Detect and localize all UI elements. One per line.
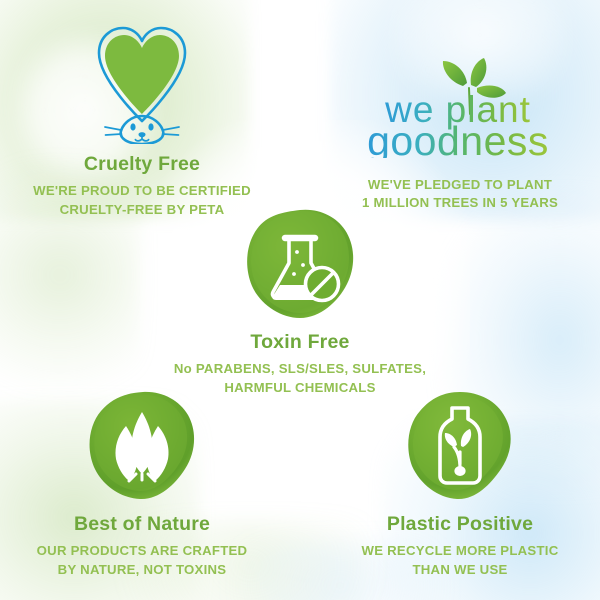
badge-desc-line: OUR PRODUCTS ARE CRAFTED — [12, 542, 272, 560]
plastic-positive-icon-holder — [330, 386, 590, 506]
badge-we-plant-goodness: we plant goodness WE'VE PLEDGED TO PLANT… — [330, 58, 590, 212]
flask-no-toxins-icon — [244, 208, 356, 320]
brand-promise-poster: Cruelty Free WE'RE PROUD TO BE CERTIFIED… — [0, 0, 600, 600]
toxin-free-icon-holder — [170, 204, 430, 324]
badge-title-toxin-free: Toxin Free — [170, 332, 430, 353]
badge-title-cruelty-free: Cruelty Free — [12, 154, 272, 175]
logo-text-goodness: goodness — [367, 118, 549, 158]
three-leaves-icon — [86, 390, 198, 502]
badge-title-plastic-positive: Plastic Positive — [330, 514, 590, 535]
badge-cruelty-free: Cruelty Free WE'RE PROUD TO BE CERTIFIED… — [12, 18, 272, 219]
bottle-sprout-icon — [404, 390, 516, 502]
we-plant-goodness-logo-artwork: we plant goodness — [330, 58, 590, 158]
badge-desc-plastic-positive: WE RECYCLE MORE PLASTIC THAN WE USE — [330, 542, 590, 578]
green-watercolor-blob — [86, 390, 198, 502]
badge-best-of-nature: Best of Nature OUR PRODUCTS ARE CRAFTED … — [12, 386, 272, 579]
badge-desc-best-of-nature: OUR PRODUCTS ARE CRAFTED BY NATURE, NOT … — [12, 542, 272, 578]
we-plant-goodness-logo: we plant goodness — [330, 58, 590, 158]
peta-bunny-heart-icon — [83, 20, 201, 144]
badge-desc-line: WE'VE PLEDGED TO PLANT — [330, 176, 590, 194]
badge-desc-line: WE RECYCLE MORE PLASTIC — [330, 542, 590, 560]
badge-desc-line: BY NATURE, NOT TOXINS — [12, 561, 272, 579]
green-watercolor-blob — [404, 390, 516, 502]
green-watercolor-blob — [244, 208, 356, 320]
best-of-nature-icon-holder — [12, 386, 272, 506]
badge-toxin-free: Toxin Free No PARABENS, SLS/SLES, SULFAT… — [170, 204, 430, 397]
badge-desc-line: No PARABENS, SLS/SLES, SULFATES, — [170, 360, 430, 378]
cruelty-free-icon-holder — [12, 18, 272, 146]
badge-desc-line: THAN WE USE — [330, 561, 590, 579]
badge-plastic-positive: Plastic Positive WE RECYCLE MORE PLASTIC… — [330, 386, 590, 579]
badge-title-best-of-nature: Best of Nature — [12, 514, 272, 535]
badge-desc-line: WE'RE PROUD TO BE CERTIFIED — [12, 182, 272, 200]
